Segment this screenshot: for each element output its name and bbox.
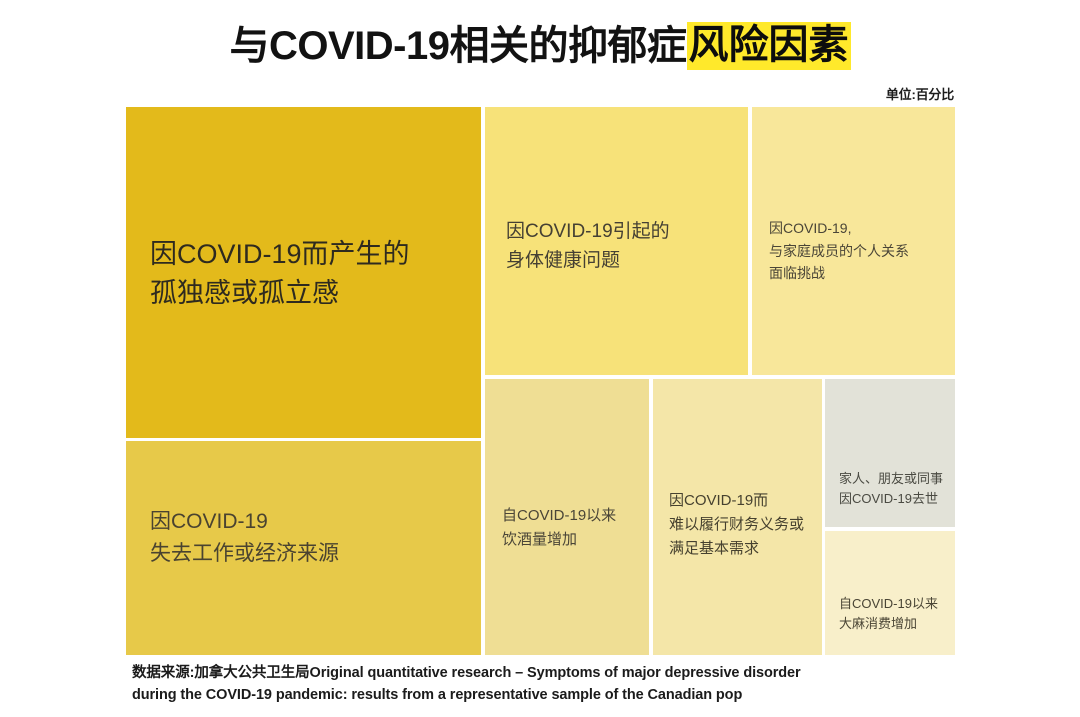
treemap-chart: 因COVID-19而产生的 孤独感或孤立感 因COVID-19 失去工作或经济来… [126, 107, 955, 655]
treemap-cell-label: 自COVID-19以来 大麻消费增加 [839, 594, 938, 634]
treemap-cell-label: 因COVID-19而 难以履行财务义务或 满足基本需求 [669, 489, 804, 561]
source-note: 数据来源:加拿大公共卫生局Original quantitative resea… [132, 662, 960, 707]
treemap-cell-bereavement[interactable]: 家人、朋友或同事 因COVID-19去世 [825, 379, 955, 527]
treemap-cell-label: 因COVID-19, 与家庭成员的个人关系 面临挑战 [769, 217, 909, 285]
page-title: 与COVID-19相关的抑郁症风险因素 [0, 22, 1080, 70]
treemap-cell-physical-health[interactable]: 因COVID-19引起的 身体健康问题 [485, 107, 748, 375]
treemap-cell-label: 因COVID-19 失去工作或经济来源 [150, 506, 339, 569]
treemap-cell-label: 家人、朋友或同事 因COVID-19去世 [839, 469, 943, 509]
title-highlight-text: 风险因素 [687, 22, 851, 70]
treemap-cell-label: 因COVID-19而产生的 孤独感或孤立感 [150, 235, 410, 313]
infographic-page: 与COVID-19相关的抑郁症风险因素 单位:百分比 因COVID-19而产生的… [0, 0, 1080, 717]
treemap-cell-loneliness[interactable]: 因COVID-19而产生的 孤独感或孤立感 [126, 107, 481, 438]
title-plain-text: 与COVID-19相关的抑郁症 [230, 24, 687, 68]
source-line-2: during the COVID-19 pandemic: results fr… [132, 684, 960, 706]
treemap-cell-alcohol-increase[interactable]: 自COVID-19以来 饮酒量增加 [485, 379, 649, 655]
unit-note: 单位:百分比 [886, 84, 954, 103]
treemap-cell-label: 因COVID-19引起的 身体健康问题 [506, 218, 670, 276]
source-line-1: 数据来源:加拿大公共卫生局Original quantitative resea… [132, 665, 801, 681]
treemap-cell-label: 自COVID-19以来 饮酒量增加 [502, 504, 616, 552]
treemap-cell-job-income-loss[interactable]: 因COVID-19 失去工作或经济来源 [126, 441, 481, 655]
treemap-cell-family-relationships[interactable]: 因COVID-19, 与家庭成员的个人关系 面临挑战 [752, 107, 955, 375]
treemap-cell-financial-obligations[interactable]: 因COVID-19而 难以履行财务义务或 满足基本需求 [653, 379, 822, 655]
treemap-cell-cannabis-increase[interactable]: 自COVID-19以来 大麻消费增加 [825, 531, 955, 655]
